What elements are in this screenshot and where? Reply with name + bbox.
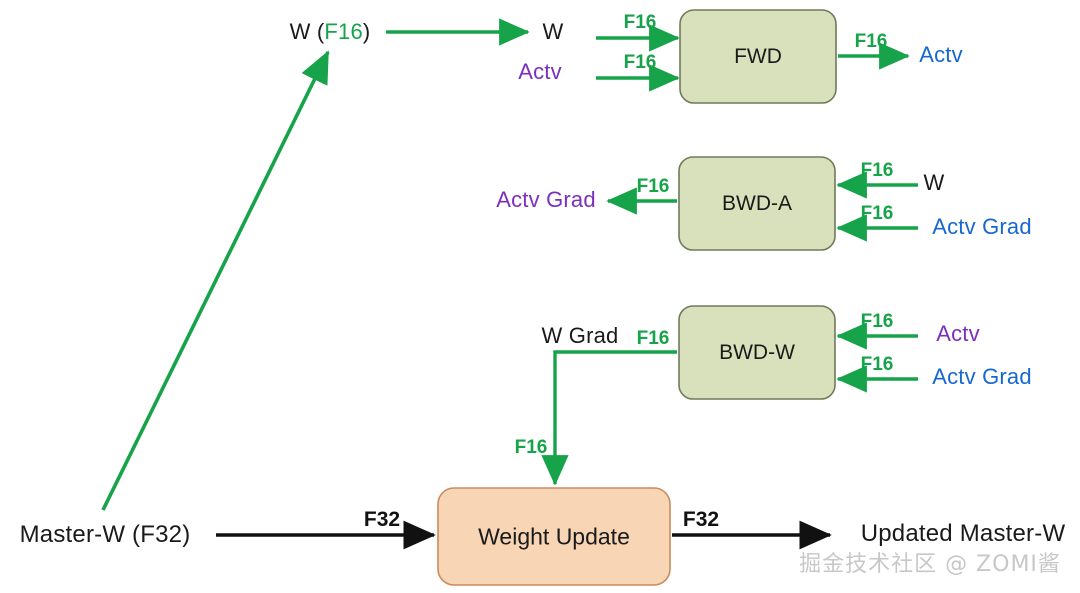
label-w-f16-prefix: W ( [290, 19, 325, 44]
label-bwdw-output-w-grad: W Grad [542, 323, 619, 349]
label-bwda-output-actv-grad: Actv Grad [496, 187, 596, 213]
label-w-f16-suffix: ) [363, 19, 371, 44]
edge-label-bwda-output: F16 [637, 176, 670, 198]
edge-label-fwd-input-1: F16 [624, 12, 657, 34]
label-fwd-input-w: W [543, 19, 564, 45]
edge-label-fwd-input-2: F16 [624, 52, 657, 74]
box-label-fwd: FWD [734, 45, 782, 69]
label-fwd-input-actv: Actv [518, 59, 562, 85]
box-label-bwd-a: BWD-A [722, 192, 792, 216]
edge-label-master-output: F32 [683, 508, 719, 532]
box-label-bwd-w: BWD-W [719, 341, 795, 365]
connector-layer [0, 0, 1080, 593]
arrow-master-w-to-w-f16 [103, 52, 328, 510]
edge-label-fwd-output: F16 [855, 31, 888, 53]
edge-label-bwdw-input-2: F16 [861, 354, 894, 376]
diagram-canvas: FWD BWD-A BWD-W Weight Update W (F16) W … [0, 0, 1080, 593]
edge-label-master-input: F32 [364, 508, 400, 532]
edge-label-bwda-input-2: F16 [861, 203, 894, 225]
label-fwd-output-actv: Actv [919, 42, 963, 68]
box-label-weight-update: Weight Update [478, 524, 630, 551]
edge-label-bwdw-output: F16 [637, 328, 670, 350]
edge-label-bwda-input-1: F16 [861, 160, 894, 182]
label-bwda-input-w: W [924, 170, 945, 196]
label-bwdw-input-actv: Actv [936, 321, 980, 347]
label-updated-master-w: Updated Master-W [861, 520, 1066, 548]
label-bwdw-input-actv-grad: Actv Grad [932, 364, 1032, 390]
arrow-wgrad-to-weight-update [555, 352, 677, 484]
label-w-f16: W (F16) [290, 19, 371, 45]
label-w-f16-value: F16 [324, 19, 363, 44]
label-master-w: Master-W (F32) [20, 521, 191, 549]
edge-label-wgrad-down: F16 [515, 437, 548, 459]
label-bwda-input-actv-grad: Actv Grad [932, 214, 1032, 240]
edge-label-bwdw-input-1: F16 [861, 311, 894, 333]
